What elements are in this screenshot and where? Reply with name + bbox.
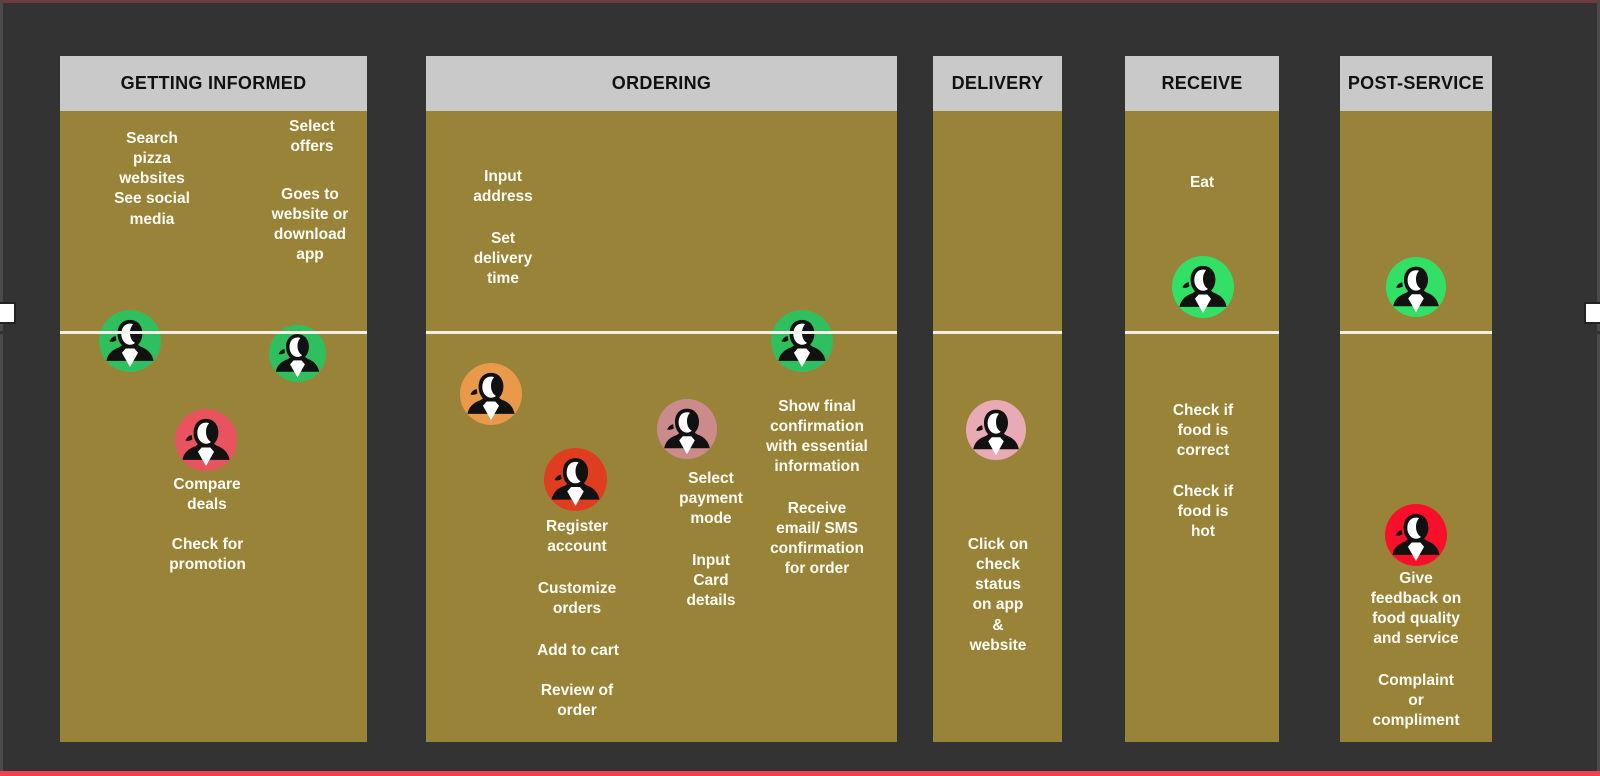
stage-column-post-service[interactable]: POST-SERVICE [1340, 56, 1492, 742]
note-receive-email-sms-confirmation: Receiveemail/ SMSconfirmationfor order [749, 499, 885, 580]
stage-header-delivery: DELIVERY [933, 56, 1062, 111]
note-customize-orders: Customizeorders [520, 579, 634, 619]
stage-header-getting-informed: GETTING INFORMED [60, 56, 367, 111]
slide-frame-left-border [0, 0, 3, 776]
note-compare-deals: Comparedeals [152, 475, 262, 515]
note-complaint-or-compliment: Complaintorcompliment [1356, 671, 1476, 731]
gap-mask-ordering-delivery [897, 331, 933, 334]
avatar-happy-search [99, 310, 161, 372]
stage-column-delivery[interactable]: DELIVERY Click oncheckstatuson app&websi… [933, 56, 1062, 742]
avatar-sad-compare [175, 409, 237, 471]
gap-mask-informed-ordering [367, 331, 426, 334]
emotion-divider-line [0, 331, 1600, 334]
avatar-angry-register [544, 448, 607, 511]
note-click-on-check-status: Click oncheckstatuson app&website [941, 535, 1055, 656]
selection-handle-left[interactable] [0, 302, 16, 324]
stage-body-getting-informed: SearchpizzawebsitesSee socialmedia Selec… [60, 111, 367, 742]
note-check-for-promotion: Check forpromotion [150, 535, 265, 575]
note-check-if-food-is-hot: Check iffood ishot [1148, 482, 1258, 542]
note-input-card-details: InputCarddetails [661, 551, 761, 611]
note-add-to-cart: Add to cart [516, 641, 640, 661]
slide-frame-top-border [0, 0, 1600, 3]
note-set-delivery-time: Setdeliverytime [448, 229, 558, 289]
stage-header-post-service: POST-SERVICE [1340, 56, 1492, 111]
avatar-angry-feedback [1385, 504, 1447, 566]
avatar-happy-ordering [771, 310, 833, 372]
gap-mask-delivery-receive [1062, 331, 1125, 334]
note-check-if-food-is-correct: Check iffood iscorrect [1148, 401, 1258, 461]
stage-header-ordering: ORDERING [426, 56, 897, 111]
note-input-address: Inputaddress [448, 167, 558, 207]
note-give-feedback: Givefeedback onfood qualityand service [1349, 569, 1483, 650]
avatar-happy-post-service [1386, 257, 1446, 317]
note-eat: Eat [1152, 173, 1252, 193]
journey-map-canvas: GETTING INFORMED SearchpizzawebsitesSee … [0, 0, 1600, 776]
stage-column-ordering[interactable]: ORDERING Inputaddress Setdeliverytime [426, 56, 897, 742]
gap-mask-right-margin [1492, 331, 1600, 334]
stage-header-receive: RECEIVE [1125, 56, 1279, 111]
note-goes-to-website: Goes towebsite ordownloadapp [254, 185, 366, 266]
gap-mask-left-margin [0, 331, 60, 334]
gap-mask-receive-postservice [1279, 331, 1340, 334]
note-select-offers: Selectoffers [258, 117, 366, 157]
avatar-happy-eat [1172, 256, 1234, 318]
note-review-of-order: Review oforder [521, 681, 633, 721]
stage-body-delivery: Click oncheckstatuson app&website [933, 111, 1062, 742]
avatar-sad-delivery-status [966, 400, 1026, 460]
stage-body-ordering: Inputaddress Setdeliverytime [426, 111, 897, 742]
note-show-final-confirmation: Show finalconfirmationwith essentialinfo… [747, 397, 887, 478]
stage-column-getting-informed[interactable]: GETTING INFORMED SearchpizzawebsitesSee … [60, 56, 367, 742]
selection-handle-right[interactable] [1584, 302, 1600, 324]
avatar-sad-payment [657, 399, 717, 459]
stage-body-receive: Eat Check iffood iscorrect Check iffood … [1125, 111, 1279, 742]
avatar-neutral-delivery-time [460, 363, 522, 425]
stage-body-post-service: Givefeedback onfood qualityand service C… [1340, 111, 1492, 742]
note-search-pizza-websites: SearchpizzawebsitesSee socialmedia [92, 129, 212, 230]
note-register-account: Registeraccount [522, 517, 632, 557]
stage-column-receive[interactable]: RECEIVE Eat Check iffood iscorrect Check… [1125, 56, 1279, 742]
slide-frame-bottom-border [0, 771, 1600, 776]
